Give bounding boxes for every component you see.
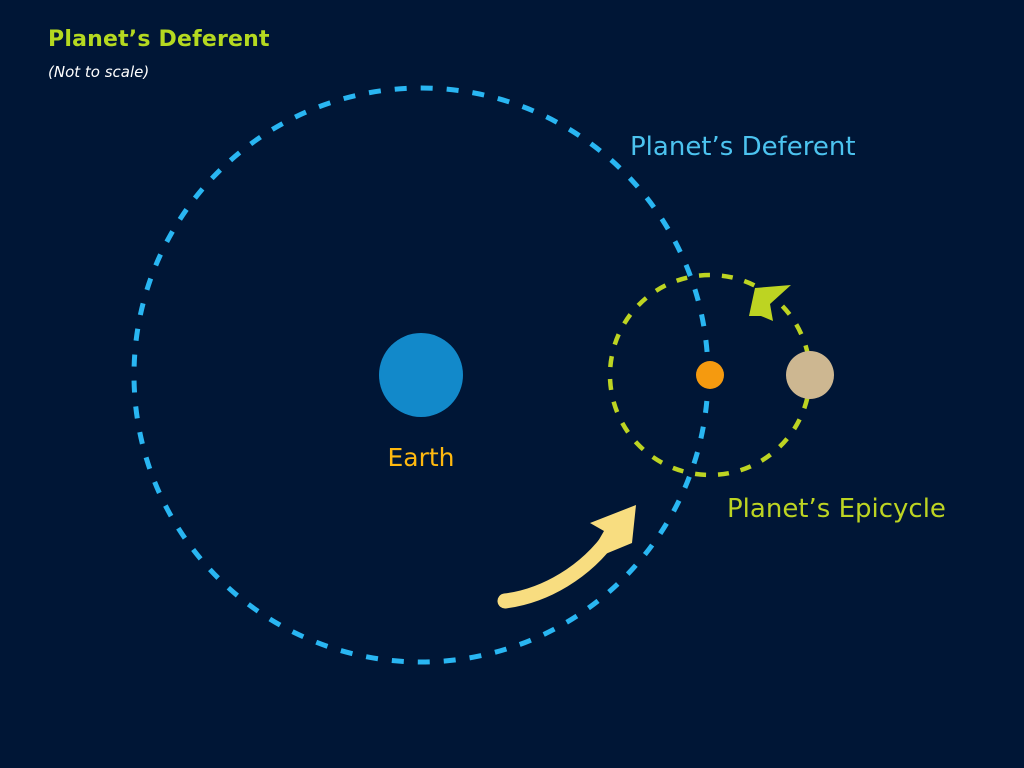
earth-body	[379, 333, 463, 417]
earth-label: Earth	[387, 443, 454, 472]
epicycle-center-point	[696, 361, 724, 389]
epicycle-deferent-diagram: Planet’s Deferent Planet’s Epicycle Eart…	[0, 0, 1024, 768]
deferent-label: Planet’s Deferent	[630, 132, 856, 162]
epicycle-direction-arrow	[749, 285, 791, 321]
epicycle-label: Planet’s Epicycle	[727, 494, 946, 524]
planet-body	[786, 351, 834, 399]
diagram-canvas: Planet’s Deferent Planet’s Epicycle Eart…	[0, 0, 1024, 768]
